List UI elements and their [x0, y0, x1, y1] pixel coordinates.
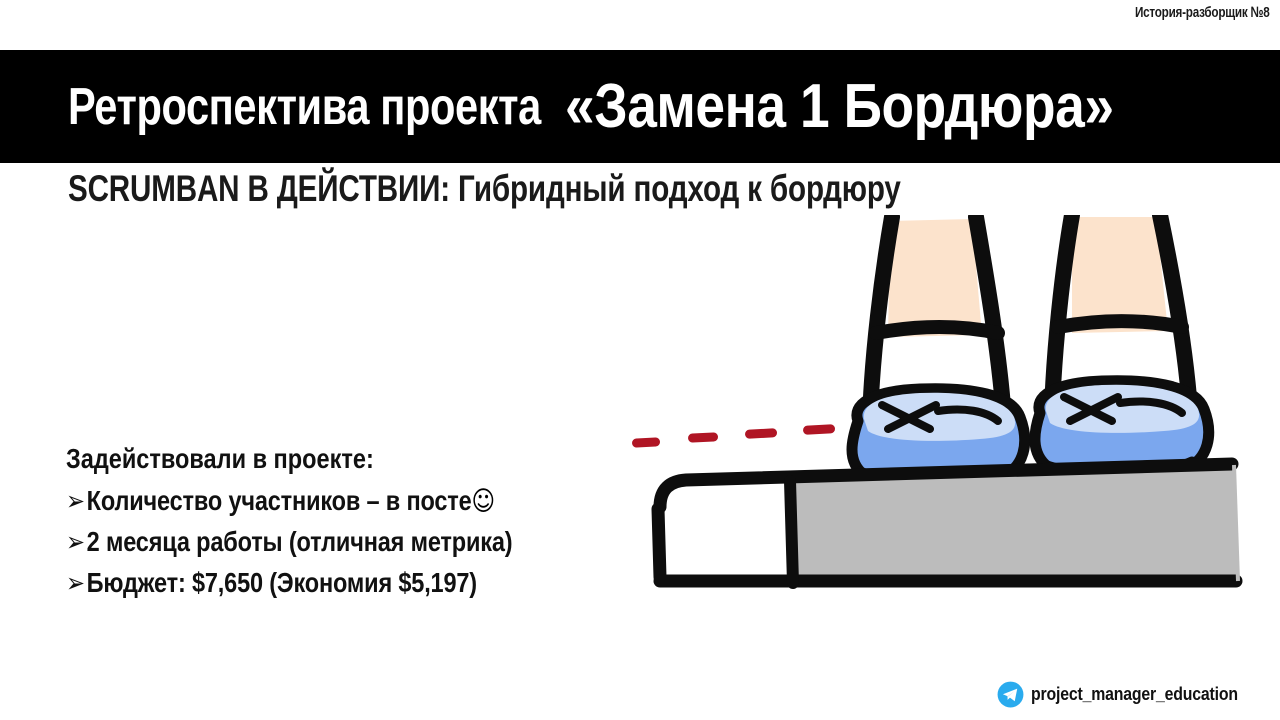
- bullets-heading: Задействовали в проекте:: [66, 443, 536, 475]
- feet-on-curb-svg: [620, 215, 1260, 615]
- list-item-label: 2 месяца работы (отличная метрика): [87, 526, 513, 558]
- telegram-handle-group[interactable]: project_manager_education: [997, 681, 1266, 708]
- smiley-face-icon: ☺: [472, 486, 496, 517]
- subtitle: SCRUMBAN В ДЕЙСТВИИ: Гибридный подход к …: [68, 168, 901, 210]
- red-dashed-line-icon: [632, 424, 835, 448]
- slide-root: История-разборщик №8 Ретроспектива проек…: [0, 0, 1280, 720]
- right-foot-group: [1035, 215, 1209, 482]
- curb-group: [657, 464, 1238, 587]
- list-item: ➢ Бюджет: $7,650 (Экономия $5,197): [66, 567, 536, 599]
- title-project-name: «Замена 1 Бордюра»: [565, 71, 1114, 142]
- list-item: ➢ Количество участников – в посте ☺: [66, 485, 536, 517]
- arrow-bullet-icon: ➢: [66, 488, 85, 515]
- arrow-bullet-icon: ➢: [66, 570, 85, 597]
- telegram-handle-label: project_manager_education: [1031, 684, 1238, 705]
- title-prefix: Ретроспектива проекта: [68, 77, 541, 137]
- series-label: История-разборщик №8: [1135, 4, 1270, 21]
- list-item-label: Количество участников – в посте: [87, 485, 472, 517]
- arrow-bullet-icon: ➢: [66, 529, 85, 556]
- bullet-block: Задействовали в проекте: ➢ Количество уч…: [66, 443, 626, 608]
- telegram-icon: [997, 681, 1024, 708]
- left-foot-group: [852, 217, 1025, 490]
- list-item: ➢ 2 месяца работы (отличная метрика): [66, 526, 536, 558]
- list-item-label: Бюджет: $7,650 (Экономия $5,197): [87, 567, 477, 599]
- feet-on-curb-illustration: [620, 215, 1260, 615]
- title-text-group: Ретроспектива проекта «Замена 1 Бордюра»: [68, 50, 1203, 163]
